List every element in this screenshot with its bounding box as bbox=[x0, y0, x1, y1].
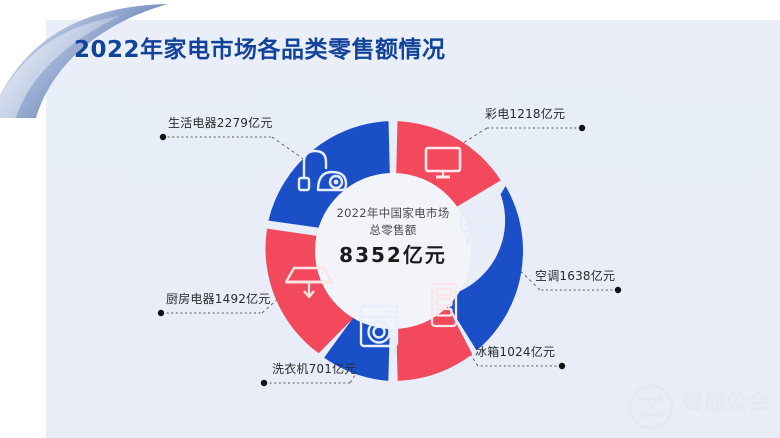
callout-label-washing-machine: 洗衣机701亿元 bbox=[272, 360, 357, 377]
watermark-url: www.znph.cn bbox=[682, 414, 770, 423]
watermark-name: 智能公会 bbox=[682, 391, 770, 413]
callout-label-refrigerator: 冰箱1024亿元 bbox=[475, 343, 555, 360]
callout-label-lifestyle-appliance: 生活电器2279亿元 bbox=[168, 114, 273, 131]
network-nodes-icon bbox=[628, 384, 674, 430]
watermark: 智能公会 www.znph.cn bbox=[628, 384, 770, 430]
center-subtitle-line2: 总零售额 bbox=[248, 222, 538, 238]
page-title: 2022年家电市场各品类零售额情况 bbox=[74, 30, 446, 64]
callout-label-air-conditioner: 空调1638亿元 bbox=[535, 267, 615, 284]
infographic-slide: 2022年家电市场各品类零售额情况 bbox=[0, 0, 780, 438]
callout-label-kitchen-appliance: 厨房电器1492亿元 bbox=[166, 290, 271, 307]
center-subtitle-line1: 2022年中国家电市场 bbox=[248, 205, 538, 221]
center-total-value: 8352亿元 bbox=[248, 239, 538, 268]
callout-label-tv: 彩电1218亿元 bbox=[485, 105, 565, 122]
